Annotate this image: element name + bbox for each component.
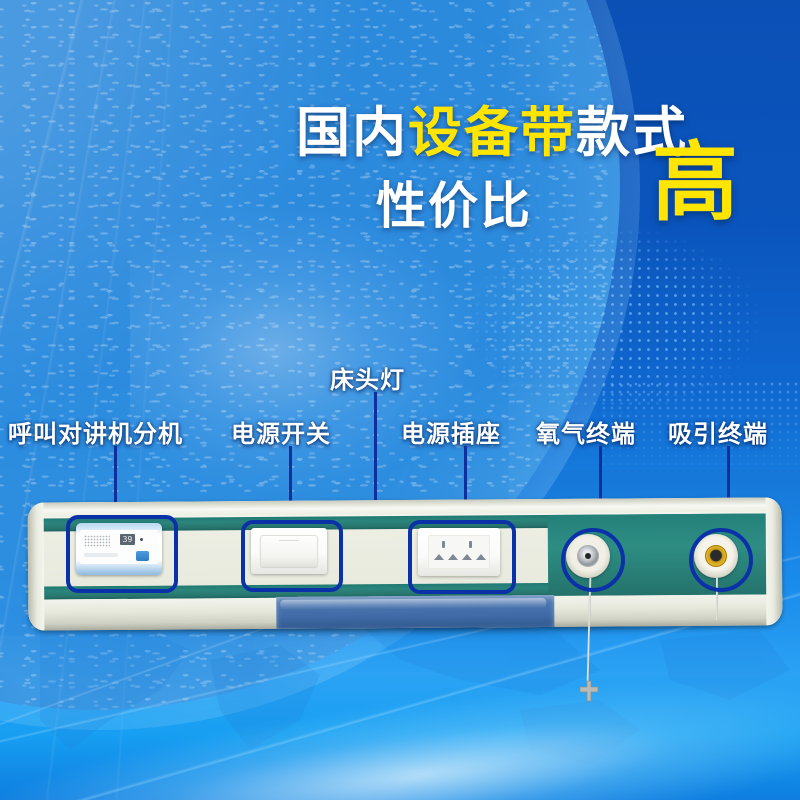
callout-label-bed-lamp: 床头灯 [330,360,405,395]
highlight-circle-suction [689,528,753,592]
highlight-box-intercom [66,515,178,593]
callout-label-intercom: 呼叫对讲机分机 [8,414,183,449]
cord-pendant-icon[interactable] [578,680,600,702]
headline-line-2: 性价比 [376,166,532,238]
callout-label-power-socket: 电源插座 [401,414,501,449]
callout-label-oxygen: 氧气终端 [536,414,636,449]
bed-lamp-gloss [280,598,546,610]
highlight-box-power-socket [408,520,516,594]
headline-line-1: 国内设备带款式 [296,88,688,167]
headline-highlight: 设备带 [408,101,576,164]
callout-label-power-switch: 电源开关 [231,414,331,449]
headline-plain-start: 国内 [296,101,408,164]
highlight-circle-oxygen [561,528,625,592]
callout-label-suction: 吸引终端 [668,414,768,449]
panel-end-cap-left [28,503,45,631]
highlight-box-power-switch [241,520,343,592]
promo-banner: 国内设备带款式 性价比 高 呼叫对讲机分机 电源开关 床头灯 电源插座 氧气终端… [0,0,800,800]
panel-end-cap-right [766,497,783,625]
headline-emphasis: 高 [652,140,738,226]
